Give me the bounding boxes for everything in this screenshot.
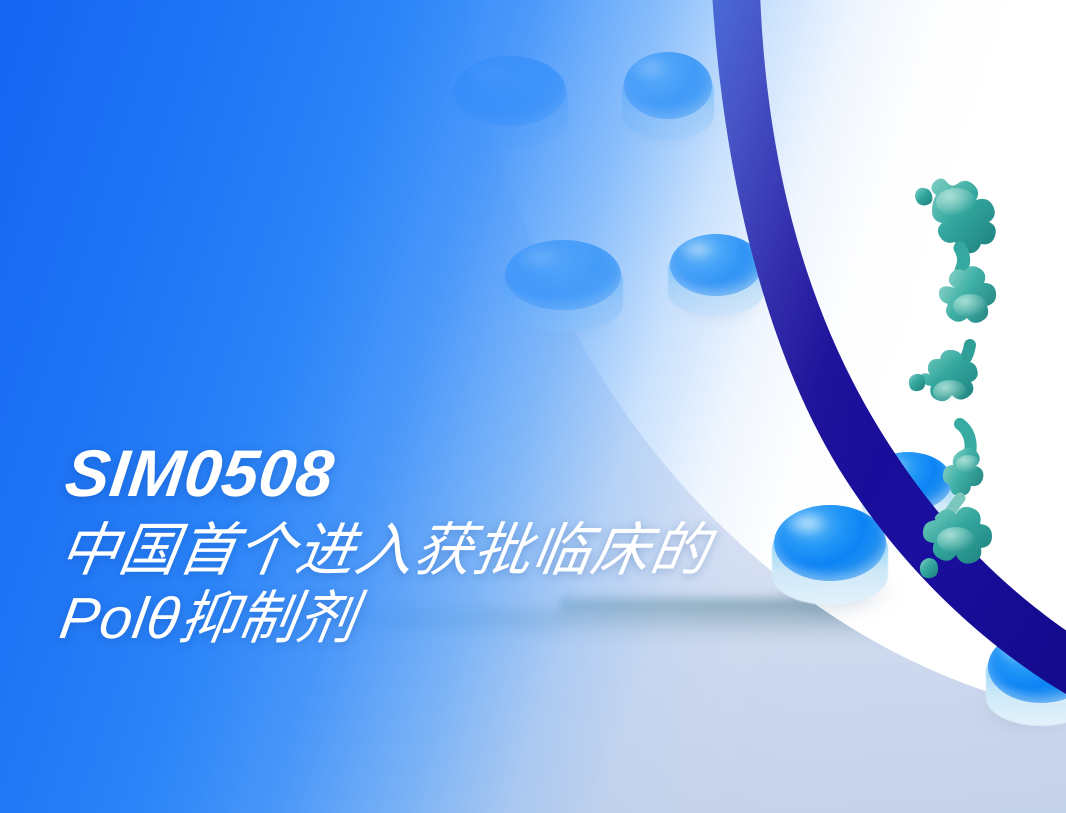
banner-stage: SIM0508 中国首个进入获批临床的 Polθ抑制剂	[0, 0, 1066, 813]
headline-subtitle-cn: 中国首个进入获批临床的	[56, 522, 714, 580]
protein-ribbon-molecule	[898, 160, 1066, 580]
molecule-icon	[898, 160, 1066, 580]
page-title: SIM0508	[62, 440, 713, 506]
headline-block: SIM0508 中国首个进入获批临床的 Polθ抑制剂	[62, 440, 705, 648]
headline-subtitle-mixed: Polθ抑制剂	[56, 590, 714, 648]
